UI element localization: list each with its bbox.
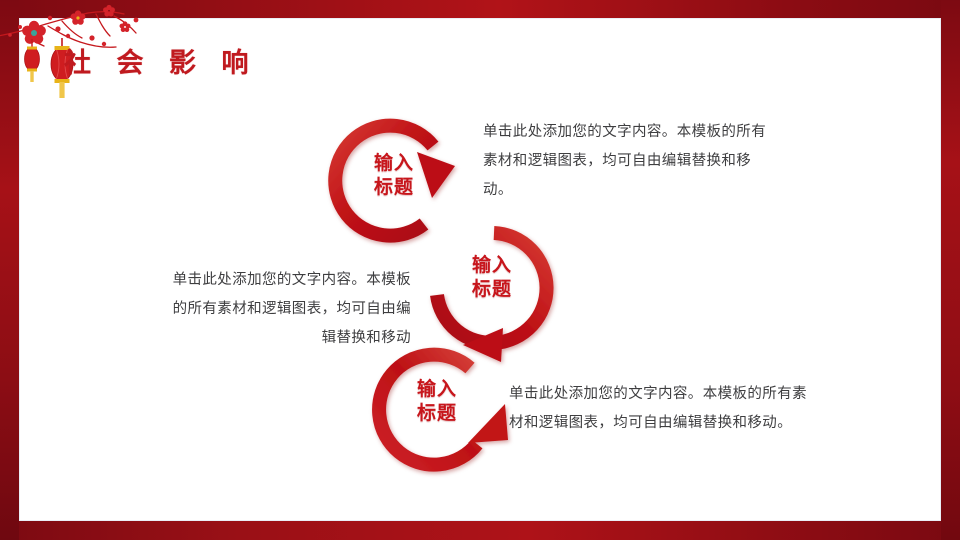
cycle-step-1-body: 单击此处添加您的文字内容。本模板的所有素材和逻辑图表，均可自由编辑替换和移动。: [483, 118, 771, 205]
cycle-step-2-body: 单击此处添加您的文字内容。本模板的所有素材和逻辑图表，均可自由编辑替换和移动: [168, 266, 411, 353]
cycle-step-3-body: 单击此处添加您的文字内容。本模板的所有素材和逻辑图表，均可自由编辑替换和移动。: [509, 380, 807, 438]
page-title: 社 会 影 响: [64, 41, 258, 80]
slide-canvas: 社 会 影 响: [0, 0, 960, 540]
cycle-ring-2: [437, 233, 547, 362]
lantern-small: [25, 39, 40, 82]
cycle-ring-3: [379, 355, 508, 465]
cycle-ring-1: [335, 126, 455, 236]
slide-header: 社 会 影 响: [0, 14, 330, 90]
